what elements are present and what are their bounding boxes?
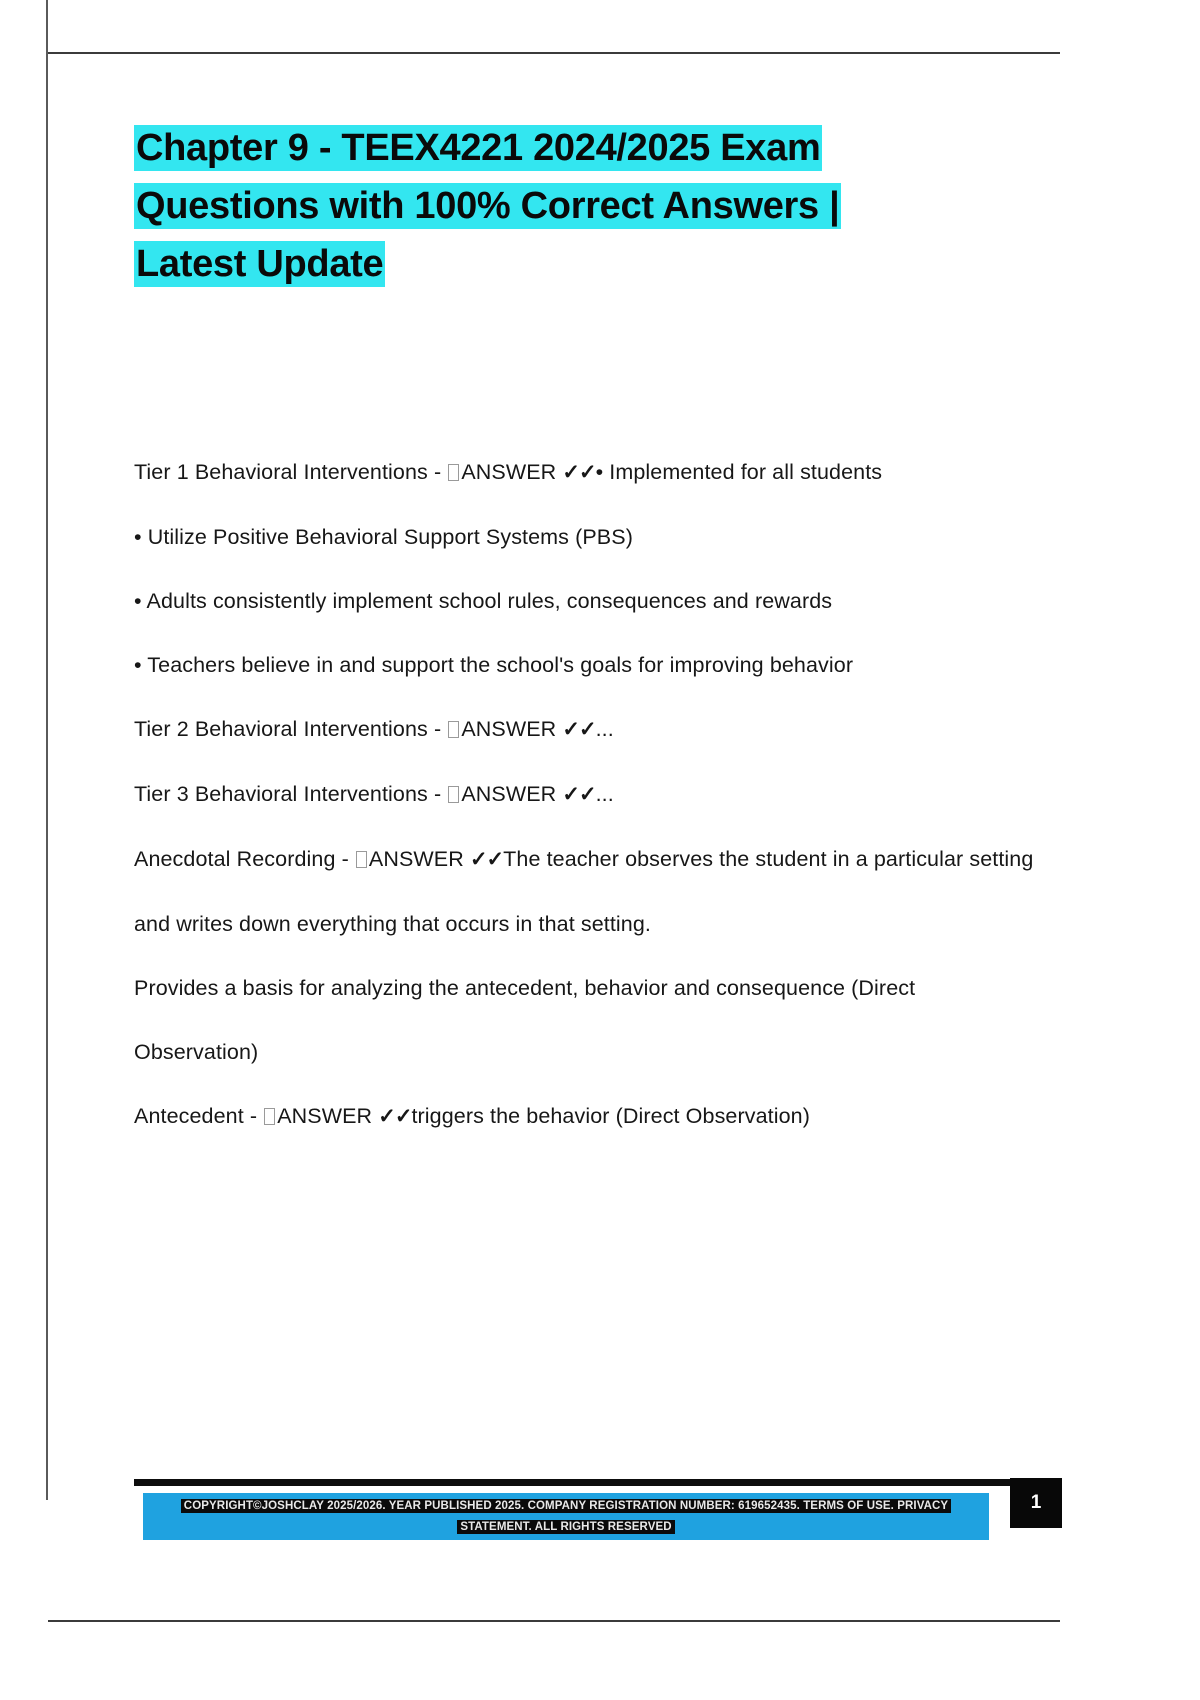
double-check-icon: ✓✓: [562, 718, 595, 741]
outer-bottom-divider: [48, 1620, 1060, 1622]
double-check-icon: ✓✓: [470, 848, 503, 871]
paragraph-bullet-pbs: • Utilize Positive Behavioral Support Sy…: [134, 505, 1034, 569]
paragraph-anecdotal-recording: Anecdotal Recording - ANSWER ✓✓The teach…: [134, 827, 1034, 956]
title-highlight-2: Questions with 100% Correct Answers |: [134, 183, 841, 229]
footer-text-2: STATEMENT. ALL RIGHTS RESERVED: [457, 1520, 674, 1534]
footer-text-1: COPYRIGHT©JOSHCLAY 2025/2026. YEAR PUBLI…: [181, 1499, 951, 1513]
term-label: Tier 3 Behavioral Interventions -: [134, 782, 447, 806]
sheet-left-edge: [46, 0, 48, 1500]
missing-glyph-box-icon: [356, 851, 367, 868]
answer-text: Provides a basis for analyzing the antec…: [134, 976, 921, 1064]
paragraph-antecedent: Antecedent - ANSWER ✓✓triggers the behav…: [134, 1084, 1034, 1149]
missing-glyph-box-icon: [264, 1108, 275, 1125]
document-page: Chapter 9 - TEEX4221 2024/2025 Exam Ques…: [0, 0, 1200, 1700]
paragraph-provides-basis: Provides a basis for analyzing the antec…: [134, 956, 1034, 1084]
answer-text: ...: [596, 717, 614, 741]
double-check-icon: ✓✓: [378, 1105, 411, 1128]
answer-text: • Adults consistently implement school r…: [134, 589, 832, 613]
paragraph-tier-3: Tier 3 Behavioral Interventions - ANSWER…: [134, 762, 1034, 827]
body-text-block: Tier 1 Behavioral Interventions - ANSWER…: [134, 440, 1034, 1149]
title-line-1: Chapter 9 - TEEX4221 2024/2025 Exam: [134, 120, 994, 176]
answer-label: ANSWER: [461, 717, 562, 741]
term-label: Anecdotal Recording -: [134, 847, 355, 871]
missing-glyph-box-icon: [448, 721, 459, 738]
answer-label: ANSWER: [369, 847, 470, 871]
answer-text: • Utilize Positive Behavioral Support Sy…: [134, 525, 633, 549]
paragraph-bullet-adults: • Adults consistently implement school r…: [134, 569, 1034, 633]
answer-label: ANSWER: [277, 1104, 378, 1128]
page-number-badge: 1: [1010, 1478, 1062, 1528]
footer-divider: [134, 1479, 1062, 1486]
missing-glyph-box-icon: [448, 464, 459, 481]
title-highlight-3: Latest Update: [134, 241, 385, 287]
footer-copyright-banner: COPYRIGHT©JOSHCLAY 2025/2026. YEAR PUBLI…: [143, 1493, 989, 1540]
footer-line-1: COPYRIGHT©JOSHCLAY 2025/2026. YEAR PUBLI…: [143, 1495, 989, 1516]
paragraph-bullet-teachers: • Teachers believe in and support the sc…: [134, 633, 1034, 697]
title-block: Chapter 9 - TEEX4221 2024/2025 Exam Ques…: [134, 120, 1014, 294]
paragraph-tier-2: Tier 2 Behavioral Interventions - ANSWER…: [134, 697, 1034, 762]
double-check-icon: ✓✓: [562, 461, 595, 484]
missing-glyph-box-icon: [448, 786, 459, 803]
double-check-icon: ✓✓: [562, 783, 595, 806]
title-line-2: Questions with 100% Correct Answers |: [134, 178, 994, 234]
page-title: Chapter 9 - TEEX4221 2024/2025 Exam Ques…: [134, 120, 994, 292]
answer-text: • Teachers believe in and support the sc…: [134, 653, 853, 677]
answer-text: ...: [596, 782, 614, 806]
title-line-3: Latest Update: [134, 236, 994, 292]
answer-text: • Implemented for all students: [596, 460, 883, 484]
answer-text: triggers the behavior (Direct Observatio…: [411, 1104, 810, 1128]
title-highlight-1: Chapter 9 - TEEX4221 2024/2025 Exam: [134, 125, 822, 171]
term-label: Tier 1 Behavioral Interventions -: [134, 460, 447, 484]
answer-label: ANSWER: [461, 460, 562, 484]
paragraph-tier-1: Tier 1 Behavioral Interventions - ANSWER…: [134, 440, 1034, 505]
answer-label: ANSWER: [461, 782, 562, 806]
term-label: Tier 2 Behavioral Interventions -: [134, 717, 447, 741]
header-divider: [48, 52, 1060, 54]
footer-line-2: STATEMENT. ALL RIGHTS RESERVED: [143, 1516, 989, 1537]
term-label: Antecedent -: [134, 1104, 263, 1128]
